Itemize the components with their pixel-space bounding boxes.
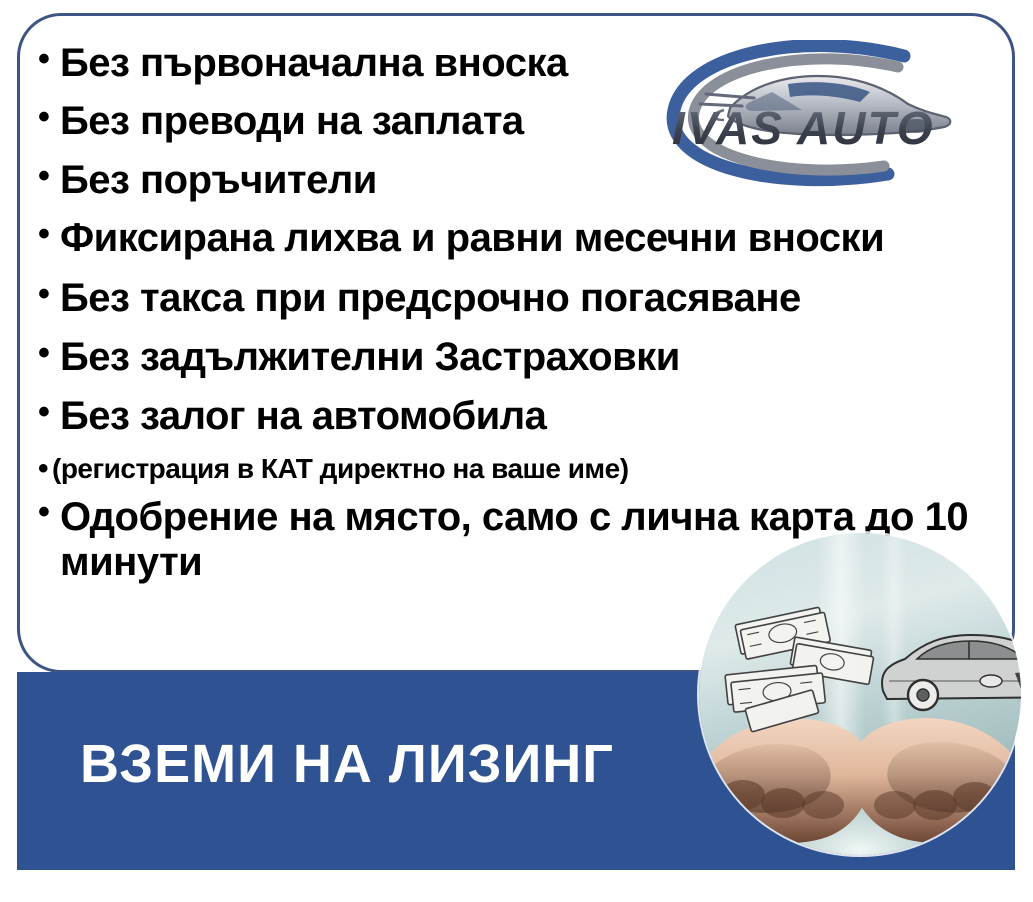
ivas-auto-logo: IVAS AUTO <box>652 40 972 190</box>
list-item-label: (регистрация в КАТ директно на ваше име) <box>52 454 1018 484</box>
bullet-dot-icon: • <box>38 454 52 484</box>
bullet-dot-icon: • <box>38 395 60 429</box>
bullet-dot-icon: • <box>38 495 60 529</box>
bullet-dot-icon: • <box>38 100 60 134</box>
list-item: • (регистрация в КАТ директно на ваше им… <box>38 454 1018 484</box>
bullet-dot-icon: • <box>38 159 60 193</box>
list-item-label: Без залог на автомобила <box>60 395 1018 437</box>
leasing-advert-poster: • Без първоначална вноска • Без преводи … <box>0 0 1033 902</box>
list-item: • Без залог на автомобила <box>38 395 1018 437</box>
bullet-dot-icon: • <box>38 217 60 251</box>
list-item-label: Фиксирана лихва и равни месечни вноски <box>60 217 1018 259</box>
logo-wordmark: IVAS AUTO <box>672 102 935 154</box>
bullet-dot-icon: • <box>38 277 60 311</box>
list-item: • Фиксирана лихва и равни месечни вноски <box>38 217 1018 259</box>
bullet-dot-icon: • <box>38 336 60 370</box>
hands-money-car-photo <box>699 533 1021 855</box>
list-item: • Без такса при предсрочно погасяване <box>38 277 1018 319</box>
banner-title: ВЗЕМИ НА ЛИЗИНГ <box>80 737 700 791</box>
list-item-label: Без такса при предсрочно погасяване <box>60 277 1018 319</box>
list-item: • Без задължителни Застраховки <box>38 336 1018 378</box>
list-item-label: Без задължителни Застраховки <box>60 336 1018 378</box>
bullet-dot-icon: • <box>38 42 60 76</box>
